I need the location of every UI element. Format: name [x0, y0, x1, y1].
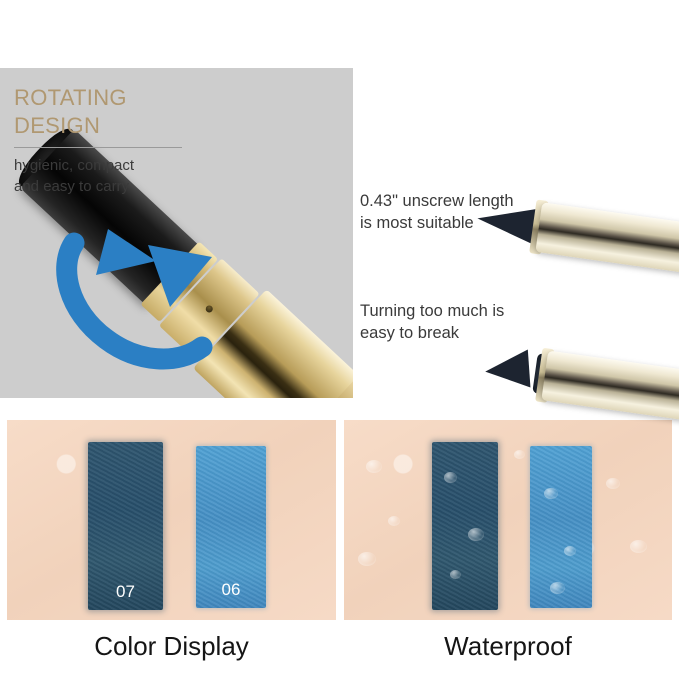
rotation-arrow-icon — [52, 215, 232, 395]
water-droplet-icon — [468, 528, 484, 541]
water-droplet-icon — [450, 570, 461, 579]
feature-subtitle-line-2: and easy to carry — [14, 176, 134, 197]
feature-title: ROTATING DESIGN — [14, 84, 127, 140]
feature-title-line-1: ROTATING — [14, 84, 127, 112]
water-droplet-icon — [606, 478, 620, 489]
note-1-line-1: 0.43" unscrew length — [360, 190, 600, 212]
pen-broken-barrel — [541, 351, 679, 422]
waterproof-swatch-panel — [344, 420, 672, 620]
water-droplet-icon — [630, 540, 647, 553]
swatch-label-06: 06 — [196, 580, 266, 600]
feature-divider — [14, 147, 182, 148]
swatch-shade-07-waterproof — [432, 442, 498, 610]
water-droplet-icon — [544, 488, 558, 499]
water-droplet-icon — [388, 516, 400, 526]
color-display-swatch-panel: 07 06 — [7, 420, 336, 620]
skin-texture-left — [7, 420, 336, 620]
note-1-line-2: is most suitable — [360, 212, 600, 234]
caption-waterproof: Waterproof — [344, 624, 672, 670]
swatch-shade-06: 06 — [196, 446, 266, 608]
water-droplet-icon — [514, 450, 525, 459]
pen-broken-tip-fragment — [484, 350, 531, 391]
note-2-line-1: Turning too much is — [360, 300, 600, 322]
note-2-line-2: easy to break — [360, 322, 600, 344]
header-band — [0, 0, 679, 68]
instruction-note-unscrew-length: 0.43" unscrew length is most suitable — [360, 190, 600, 234]
feature-title-line-2: DESIGN — [14, 112, 127, 140]
water-droplet-icon — [366, 460, 382, 473]
water-droplet-icon — [550, 582, 565, 594]
infographic-page: HOW TO USE ROTATING DESIGN hygienic, com… — [0, 0, 679, 679]
feature-subtitle-line-1: hygienic, compact — [14, 155, 134, 176]
swatch-label-07: 07 — [88, 582, 163, 602]
swatch-shade-07: 07 — [88, 442, 163, 610]
feature-subtitle: hygienic, compact and easy to carry — [14, 155, 134, 197]
swatch-shade-06-waterproof — [530, 446, 592, 608]
caption-color-display: Color Display — [7, 624, 336, 670]
water-droplet-icon — [444, 472, 457, 483]
water-droplet-icon — [358, 552, 376, 566]
instruction-note-turning-too-much: Turning too much is easy to break — [360, 300, 600, 344]
water-droplet-icon — [564, 546, 576, 556]
